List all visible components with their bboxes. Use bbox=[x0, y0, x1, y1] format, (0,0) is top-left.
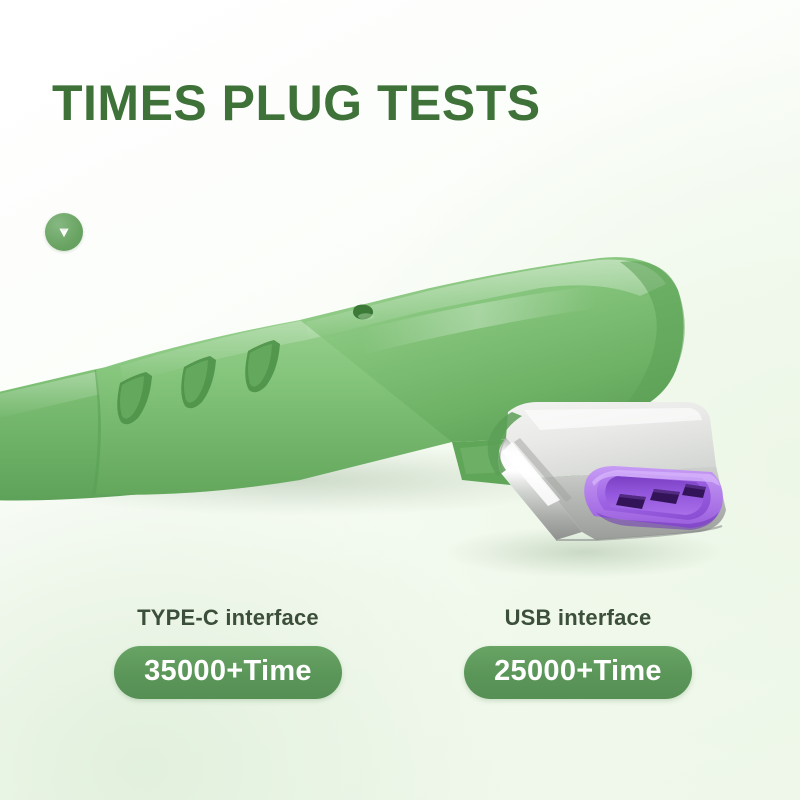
metric-value-type-c: 35000+Time bbox=[114, 646, 342, 699]
metrics-row: TYPE-C interface 35000+Time USB interfac… bbox=[0, 605, 800, 725]
metric-usb: USB interface 25000+Time bbox=[438, 605, 718, 699]
metric-label-type-c: TYPE-C interface bbox=[88, 605, 368, 631]
page-title: TIMES PLUG TESTS bbox=[52, 78, 541, 128]
product-feature-poster: TIMES PLUG TESTS bbox=[0, 0, 800, 800]
metric-label-usb: USB interface bbox=[438, 605, 718, 631]
usb-c-connector bbox=[498, 402, 726, 540]
metric-value-usb: 25000+Time bbox=[464, 646, 692, 699]
metric-type-c: TYPE-C interface 35000+Time bbox=[88, 605, 368, 699]
usb-c-cable-illustration bbox=[0, 180, 800, 610]
